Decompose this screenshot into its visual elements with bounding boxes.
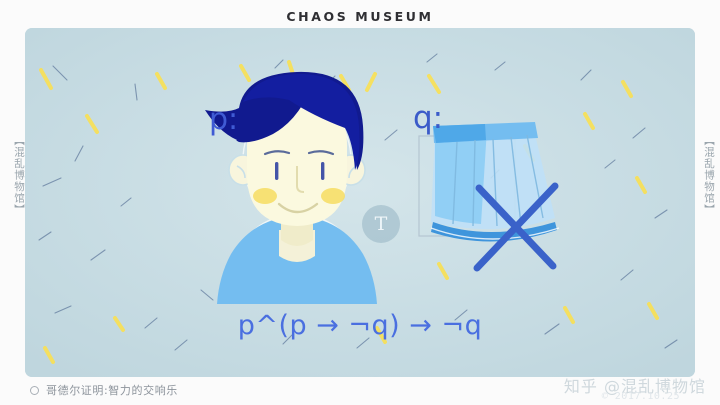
side-label-right: 【混乱博物馆】 <box>694 135 716 216</box>
label-p: p: <box>209 102 238 137</box>
footer-caption-text: 哥德尔证明:智力的交响乐 <box>46 382 178 398</box>
footer: 哥德尔证明:智力的交响乐 知乎 @混乱博物馆 © 2017.10.25 <box>0 377 720 405</box>
page-title: CHAOS MUSEUM <box>0 9 720 24</box>
slide-card: p: q: T p^(p → ¬q) → ¬q 则命题形式化为 <box>25 28 695 377</box>
footer-caption: 哥德尔证明:智力的交响乐 <box>30 382 178 398</box>
watermark-date: © 2017.10.25 <box>602 391 680 402</box>
t-badge[interactable]: T <box>362 205 400 243</box>
circle-outline-icon <box>30 386 39 395</box>
side-label-left: 【混乱博物馆】 <box>4 135 26 216</box>
label-q: q: <box>413 100 443 136</box>
logic-formula: p^(p → ¬q) → ¬q <box>25 310 695 341</box>
